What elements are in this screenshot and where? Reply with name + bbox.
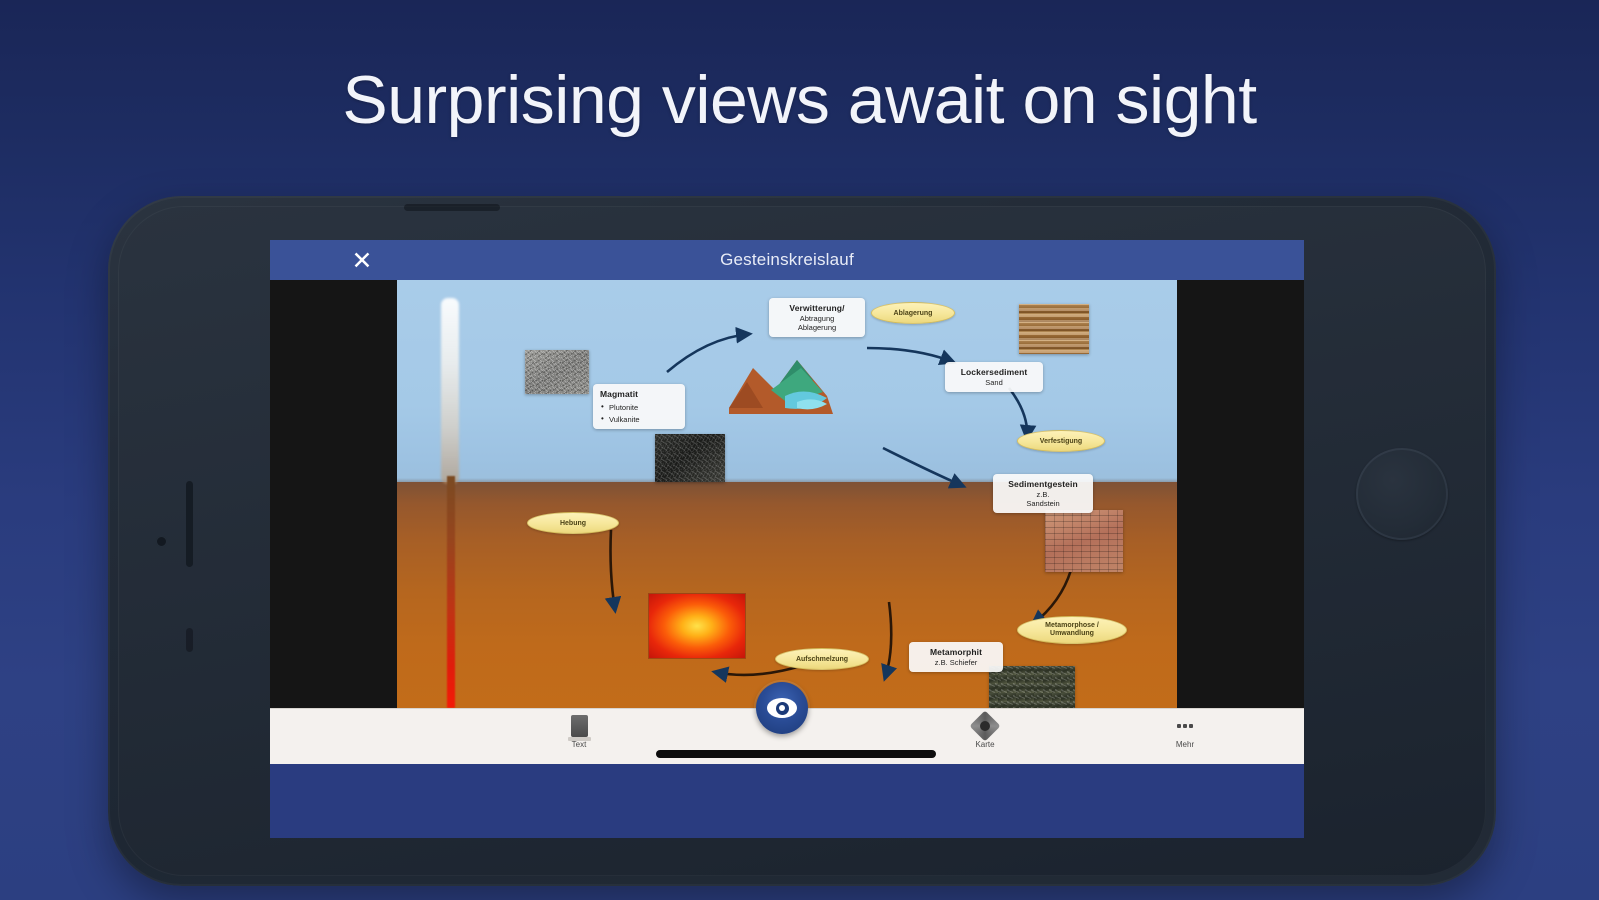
- oval-verfestigung[interactable]: Verfestigung: [1017, 430, 1105, 452]
- close-icon[interactable]: ✕: [348, 247, 376, 275]
- ellipsis-icon: [1174, 715, 1196, 737]
- card-metamorphit[interactable]: Metamorphit z.B. Schiefer: [909, 642, 1003, 672]
- page-title: Gesteinskreislauf: [270, 250, 1304, 270]
- card-lockersediment[interactable]: Lockersediment Sand: [945, 362, 1043, 392]
- phone-mockup: Gesteinskreislauf ✕: [108, 196, 1496, 886]
- photo-basalt[interactable]: [655, 434, 725, 482]
- oval-metamorphose[interactable]: Metamorphose / Umwandlung: [1017, 616, 1127, 644]
- card-sedimentgestein[interactable]: Sedimentgestein z.B. Sandstein: [993, 474, 1093, 513]
- front-camera-icon: [156, 536, 167, 547]
- tab-karte[interactable]: Karte: [930, 715, 1040, 761]
- oval-hebung[interactable]: Hebung: [527, 512, 619, 534]
- tab-text[interactable]: Text: [524, 715, 634, 761]
- card-verwitterung[interactable]: Verwitterung/ Abtragung Ablagerung: [769, 298, 865, 337]
- photo-sandstone[interactable]: [1045, 510, 1123, 572]
- media-letterbox: Verwitterung/ Abtragung Ablagerung Locke…: [270, 280, 1304, 708]
- eye-pupil: [779, 705, 785, 711]
- rock-cycle-diagram[interactable]: Verwitterung/ Abtragung Ablagerung Locke…: [397, 280, 1177, 708]
- phone-screen: Gesteinskreislauf ✕: [270, 240, 1304, 838]
- oval-aufschmelzung[interactable]: Aufschmelzung: [775, 648, 869, 670]
- app-background-area: [270, 764, 1304, 838]
- promo-screenshot: Surprising views await on sight Gesteins…: [0, 0, 1599, 900]
- document-icon: [571, 715, 588, 737]
- volume-down-button[interactable]: [186, 628, 193, 652]
- tab-mehr[interactable]: Mehr: [1130, 715, 1240, 761]
- vr-view-button[interactable]: [756, 682, 808, 734]
- home-indicator: [656, 750, 936, 758]
- photo-schist[interactable]: [989, 666, 1075, 708]
- photo-granite[interactable]: [525, 350, 589, 394]
- compass-icon: [969, 710, 1000, 741]
- eye-iris: [776, 702, 789, 715]
- home-button[interactable]: [1356, 448, 1448, 540]
- promo-headline: Surprising views await on sight: [0, 66, 1599, 134]
- app-titlebar: Gesteinskreislauf ✕: [270, 240, 1304, 280]
- magmatit-bullets: Plutonite Vulkanite: [600, 403, 678, 424]
- card-magmatit[interactable]: Magmatit Plutonite Vulkanite: [593, 384, 685, 429]
- earpiece-speaker: [404, 204, 500, 211]
- eye-icon: [767, 698, 797, 718]
- volume-up-button[interactable]: [186, 481, 193, 567]
- oval-ablagerung[interactable]: Ablagerung: [871, 302, 955, 324]
- photo-sand-layers[interactable]: [1019, 304, 1089, 354]
